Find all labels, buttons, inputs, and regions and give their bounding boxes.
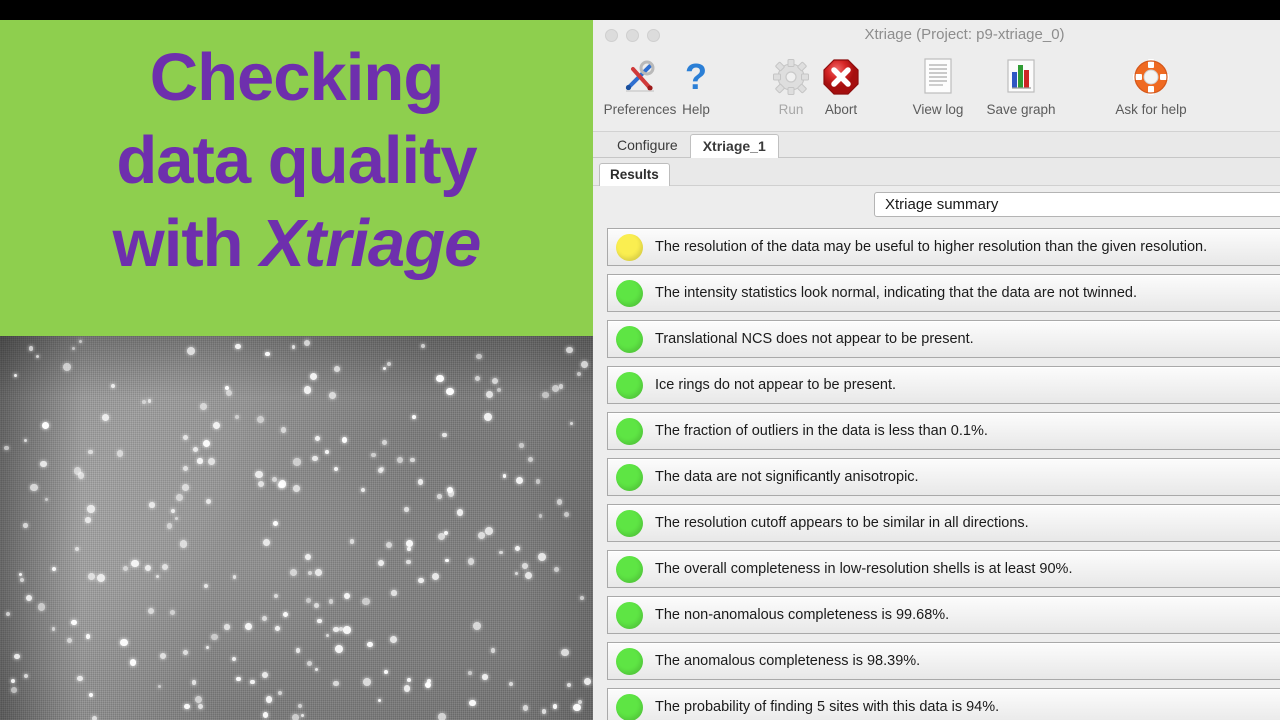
document-icon	[898, 54, 978, 100]
diffraction-spot	[438, 533, 445, 540]
window-title: Xtriage (Project: p9-xtriage_0)	[593, 26, 1280, 43]
diffraction-spot	[437, 494, 442, 499]
slide-title-line-3: with Xtriage	[18, 210, 575, 277]
diffraction-spot	[158, 685, 161, 688]
diffraction-spot	[442, 433, 447, 438]
diffraction-spot	[436, 375, 443, 382]
diffraction-spot	[308, 571, 312, 575]
table-row[interactable]: The probability of finding 5 sites with …	[607, 688, 1280, 720]
table-row[interactable]: The resolution cutoff appears to be simi…	[607, 504, 1280, 542]
diffraction-spot	[293, 485, 300, 492]
diffraction-spot	[536, 479, 540, 483]
diffraction-spot	[406, 560, 410, 564]
diffraction-spot	[278, 691, 282, 695]
diffraction-spot	[407, 547, 411, 551]
diffraction-spot	[263, 712, 268, 717]
diffraction-spot	[183, 466, 188, 471]
diffraction-spot	[427, 679, 431, 683]
result-text: The fraction of outliers in the data is …	[655, 423, 988, 439]
diffraction-spot	[184, 704, 189, 709]
diffraction-spot	[386, 542, 392, 548]
diffraction-spot	[484, 413, 492, 421]
diffraction-spot	[87, 505, 94, 512]
diffraction-spot	[350, 539, 354, 543]
diffraction-spot	[117, 450, 123, 456]
diffraction-spot	[149, 502, 155, 508]
diffraction-spot	[263, 539, 270, 546]
diffraction-spot	[235, 344, 241, 350]
diffraction-spot	[130, 659, 137, 666]
status-badge	[616, 694, 643, 720]
diffraction-spot	[307, 661, 312, 666]
diffraction-spot	[67, 638, 72, 643]
diffraction-spot	[86, 634, 91, 639]
window-titlebar: Xtriage (Project: p9-xtriage_0)	[593, 20, 1280, 52]
table-row[interactable]: The overall completeness in low-resoluti…	[607, 550, 1280, 588]
diffraction-spot	[11, 687, 17, 693]
diffraction-spot	[97, 574, 105, 582]
diffraction-spot	[525, 572, 532, 579]
diffraction-spot	[182, 484, 189, 491]
diffraction-spot	[266, 696, 272, 702]
diffraction-spot	[468, 671, 472, 675]
diffraction-spot	[38, 603, 46, 611]
result-text: Translational NCS does not appear to be …	[655, 331, 974, 347]
diffraction-spot	[208, 458, 215, 465]
diffraction-spot	[412, 415, 416, 419]
diffraction-spot	[469, 700, 475, 706]
diffraction-spot	[317, 619, 322, 624]
diffraction-spot	[473, 622, 481, 630]
diffraction-spot	[183, 650, 188, 655]
diffraction-spot	[52, 567, 56, 571]
summary-selector-value: Xtriage summary	[885, 196, 998, 213]
toolbar-button-save-graph[interactable]: Save graph	[976, 54, 1066, 117]
toolbar-button-view-log[interactable]: View log	[898, 54, 978, 117]
diffraction-spot	[120, 639, 128, 647]
status-badge	[616, 464, 643, 491]
table-row[interactable]: The intensity statistics look normal, in…	[607, 274, 1280, 312]
diffraction-spot	[171, 509, 175, 513]
slide-title-line-2: data quality	[18, 127, 575, 194]
diffraction-spot	[542, 709, 547, 714]
screen-root: Checking data quality with Xtriage Xtria…	[0, 0, 1280, 720]
stop-x-icon	[808, 54, 874, 100]
subtab-results[interactable]: Results	[599, 163, 670, 186]
diffraction-spot	[92, 716, 97, 720]
diffraction-spot	[492, 378, 498, 384]
diffraction-spot	[71, 620, 76, 625]
tab-configure[interactable]: Configure	[605, 134, 690, 157]
toolbar-button-ask-for-help[interactable]: Ask for help	[1101, 54, 1201, 117]
diffraction-spot	[539, 514, 543, 518]
status-badge	[616, 234, 643, 261]
diffraction-spot	[250, 680, 255, 685]
diffraction-spot	[581, 361, 588, 368]
diffraction-spot	[262, 616, 267, 621]
diffraction-spot	[503, 474, 507, 478]
toolbar-label-ask-for-help: Ask for help	[1101, 102, 1201, 117]
diffraction-spot	[23, 523, 28, 528]
result-text: The data are not significantly anisotrop…	[655, 469, 919, 485]
diffraction-spot	[296, 648, 301, 653]
result-text: Ice rings do not appear to be present.	[655, 377, 896, 393]
diffraction-spot	[325, 450, 329, 454]
main-tabstrip: Configure Xtriage_1	[593, 132, 1280, 158]
diffraction-spot	[63, 363, 71, 371]
lifebuoy-icon	[1101, 54, 1201, 100]
diffraction-spot	[20, 578, 24, 582]
diffraction-spot	[78, 472, 85, 479]
result-text: The overall completeness in low-resoluti…	[655, 561, 1072, 577]
slide-title-emphasis: Xtriage	[260, 206, 480, 281]
diffraction-spot	[445, 559, 448, 562]
diffraction-spot	[584, 678, 591, 685]
diffraction-spot	[272, 477, 277, 482]
diffraction-spot	[198, 704, 203, 709]
results-list: The resolution of the data may be useful…	[593, 222, 1280, 720]
diffraction-spot	[342, 437, 347, 442]
toolbar-label-help: Help	[666, 102, 726, 117]
diffraction-spot	[404, 685, 410, 691]
toolbar-label-save-graph: Save graph	[976, 102, 1066, 117]
slide-title: Checking data quality with Xtriage	[0, 20, 593, 277]
diffraction-spot	[204, 584, 208, 588]
diffraction-spot	[292, 345, 296, 349]
diffraction-spot	[476, 354, 482, 360]
diffraction-spot	[315, 569, 322, 576]
diffraction-spot	[578, 700, 582, 704]
table-row[interactable]: The fraction of outliers in the data is …	[607, 412, 1280, 450]
diffraction-spot	[279, 480, 287, 488]
diffraction-spot	[363, 678, 371, 686]
diffraction-spot	[538, 553, 546, 561]
table-row[interactable]: The data are not significantly anisotrop…	[607, 458, 1280, 496]
diffraction-spot	[206, 499, 211, 504]
diffraction-spot	[262, 672, 268, 678]
diffraction-spot	[306, 598, 311, 603]
diffraction-spot	[224, 624, 230, 630]
diffraction-spot	[447, 487, 453, 493]
diffraction-spot	[519, 443, 523, 447]
diffraction-spot	[192, 680, 196, 684]
diffraction-spot	[486, 391, 493, 398]
status-badge	[616, 648, 643, 675]
xtriage-window: Xtriage (Project: p9-xtriage_0) Preferen…	[593, 20, 1280, 720]
diffraction-spot	[88, 573, 95, 580]
diffraction-spot	[24, 439, 27, 442]
diffraction-spot	[265, 352, 270, 357]
diffraction-spot	[410, 458, 414, 462]
summary-selector[interactable]: Xtriage summary	[874, 192, 1280, 217]
diffraction-spot	[200, 403, 207, 410]
diffraction-spot	[378, 560, 384, 566]
diffraction-spot	[482, 674, 487, 679]
diffraction-spot	[233, 575, 236, 578]
diffraction-spot	[390, 636, 397, 643]
bar-chart-icon	[976, 54, 1066, 100]
diffraction-spot	[275, 626, 280, 631]
toolbar-label-view-log: View log	[898, 102, 978, 117]
diffraction-spot	[30, 484, 38, 492]
slide-title-line-1: Checking	[18, 44, 575, 111]
diffraction-vignette	[0, 336, 593, 720]
diffraction-spot	[29, 346, 33, 350]
diffraction-spot	[343, 626, 351, 634]
diffraction-spot	[404, 507, 409, 512]
toolbar-button-help[interactable]: ? Help	[666, 54, 726, 117]
diffraction-spot	[292, 714, 299, 720]
status-badge	[616, 280, 643, 307]
result-text: The probability of finding 5 sites with …	[655, 699, 999, 715]
diffraction-spot	[561, 649, 569, 657]
table-row[interactable]: The anomalous completeness is 98.39%.	[607, 642, 1280, 680]
diffraction-spot	[573, 704, 581, 712]
diffraction-spot	[391, 590, 396, 595]
diffraction-spot	[528, 457, 533, 462]
diffraction-spot	[176, 494, 183, 501]
status-badge	[616, 326, 643, 353]
diffraction-spot	[293, 458, 300, 465]
diffraction-spot	[567, 683, 571, 687]
diffraction-spot	[478, 532, 485, 539]
diffraction-spot	[167, 523, 173, 529]
table-row[interactable]: The non-anomalous completeness is 99.68%…	[607, 596, 1280, 634]
diffraction-spot	[213, 422, 220, 429]
diffraction-spot	[485, 527, 493, 535]
result-text: The non-anomalous completeness is 99.68%…	[655, 607, 949, 623]
diffraction-spot	[438, 713, 446, 720]
result-text: The resolution cutoff appears to be simi…	[655, 515, 1029, 531]
diffraction-spot	[148, 399, 151, 402]
status-badge	[616, 372, 643, 399]
diffraction-spot	[170, 610, 175, 615]
table-row[interactable]: Translational NCS does not appear to be …	[607, 320, 1280, 358]
status-badge	[616, 556, 643, 583]
question-icon: ?	[666, 54, 726, 100]
diffraction-image	[0, 336, 593, 720]
diffraction-spot	[255, 471, 263, 479]
diffraction-spot	[52, 627, 56, 631]
diffraction-spot	[11, 679, 15, 683]
diffraction-spot	[88, 450, 92, 454]
diffraction-spot	[333, 627, 339, 633]
toolbar-label-abort: Abort	[808, 102, 874, 117]
table-row[interactable]: The resolution of the data may be useful…	[607, 228, 1280, 266]
diffraction-spot	[566, 347, 572, 353]
svg-text:?: ?	[685, 57, 707, 97]
diffraction-spot	[557, 499, 562, 504]
diffraction-spot	[4, 446, 9, 451]
diffraction-spot	[446, 388, 453, 395]
result-text: The anomalous completeness is 98.39%.	[655, 653, 920, 669]
diffraction-spot	[312, 456, 317, 461]
status-badge	[616, 602, 643, 629]
presentation-slide: Checking data quality with Xtriage	[0, 20, 593, 720]
diffraction-spot	[197, 458, 202, 463]
toolbar: Preferences ? Help	[593, 52, 1280, 132]
result-text: The resolution of the data may be useful…	[655, 239, 1207, 255]
diffraction-spot	[387, 362, 391, 366]
diffraction-spot	[226, 390, 232, 396]
diffraction-spot	[367, 642, 372, 647]
diffraction-spot	[193, 447, 198, 452]
diffraction-spot	[42, 422, 49, 429]
sub-tabstrip: Results	[593, 158, 1280, 186]
diffraction-spot	[85, 517, 90, 522]
diffraction-spot	[421, 344, 425, 348]
diffraction-spot	[457, 509, 464, 516]
slide-title-line-3-text: with	[113, 206, 261, 281]
tab-xtriage-1[interactable]: Xtriage_1	[690, 134, 779, 158]
toolbar-button-abort[interactable]: Abort	[808, 54, 874, 117]
diffraction-spot	[40, 461, 46, 467]
diffraction-spot	[362, 598, 370, 606]
diffraction-spot	[235, 415, 239, 419]
diffraction-spot	[491, 648, 495, 652]
status-badge	[616, 418, 643, 445]
status-badge	[616, 510, 643, 537]
result-text: The intensity statistics look normal, in…	[655, 285, 1137, 301]
table-row[interactable]: Ice rings do not appear to be present.	[607, 366, 1280, 404]
selector-row: Xtriage summary	[593, 186, 1280, 222]
